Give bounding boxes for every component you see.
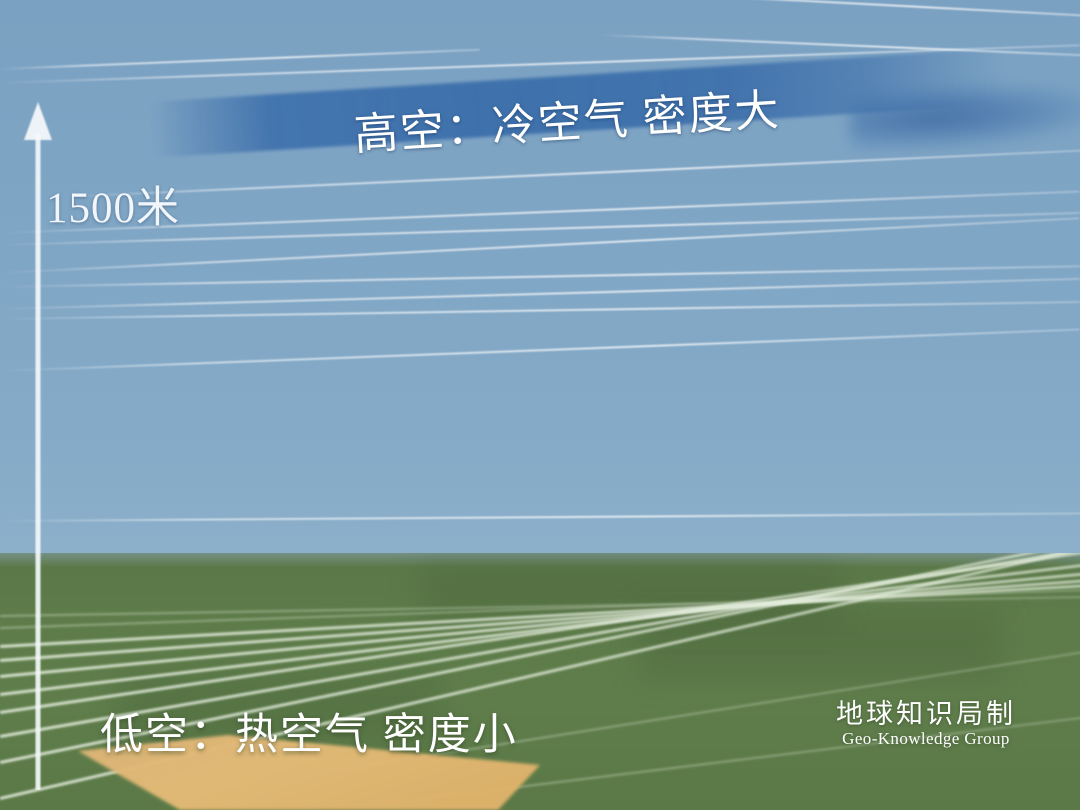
low-altitude-label: 低空：热空气 密度小 [100,700,518,762]
ground-perspective-line [0,563,1080,696]
ground-shadow-patch [420,563,840,623]
ground-region [0,553,1080,810]
warm-air-patch-icon [0,553,1080,810]
illustration-scene: 高空：冷空气 密度大 1500米 低空：热空气 密度小 地球知识局制 Geo-K… [0,0,1080,810]
ground-perspective-line [0,578,1080,662]
ground-perspective-line [0,571,1080,678]
ground-perspective-line [0,589,1080,629]
ground-shadow-patch [640,608,1000,678]
ground-perspective-line [0,584,1080,648]
sky-region [0,0,1080,556]
altitude-label: 1500米 [46,173,180,235]
ground-perspective-line [0,596,1080,617]
ground-perspective-line [0,553,1072,800]
horizon-haze [0,553,1080,567]
ground-perspective-line [0,553,1080,714]
